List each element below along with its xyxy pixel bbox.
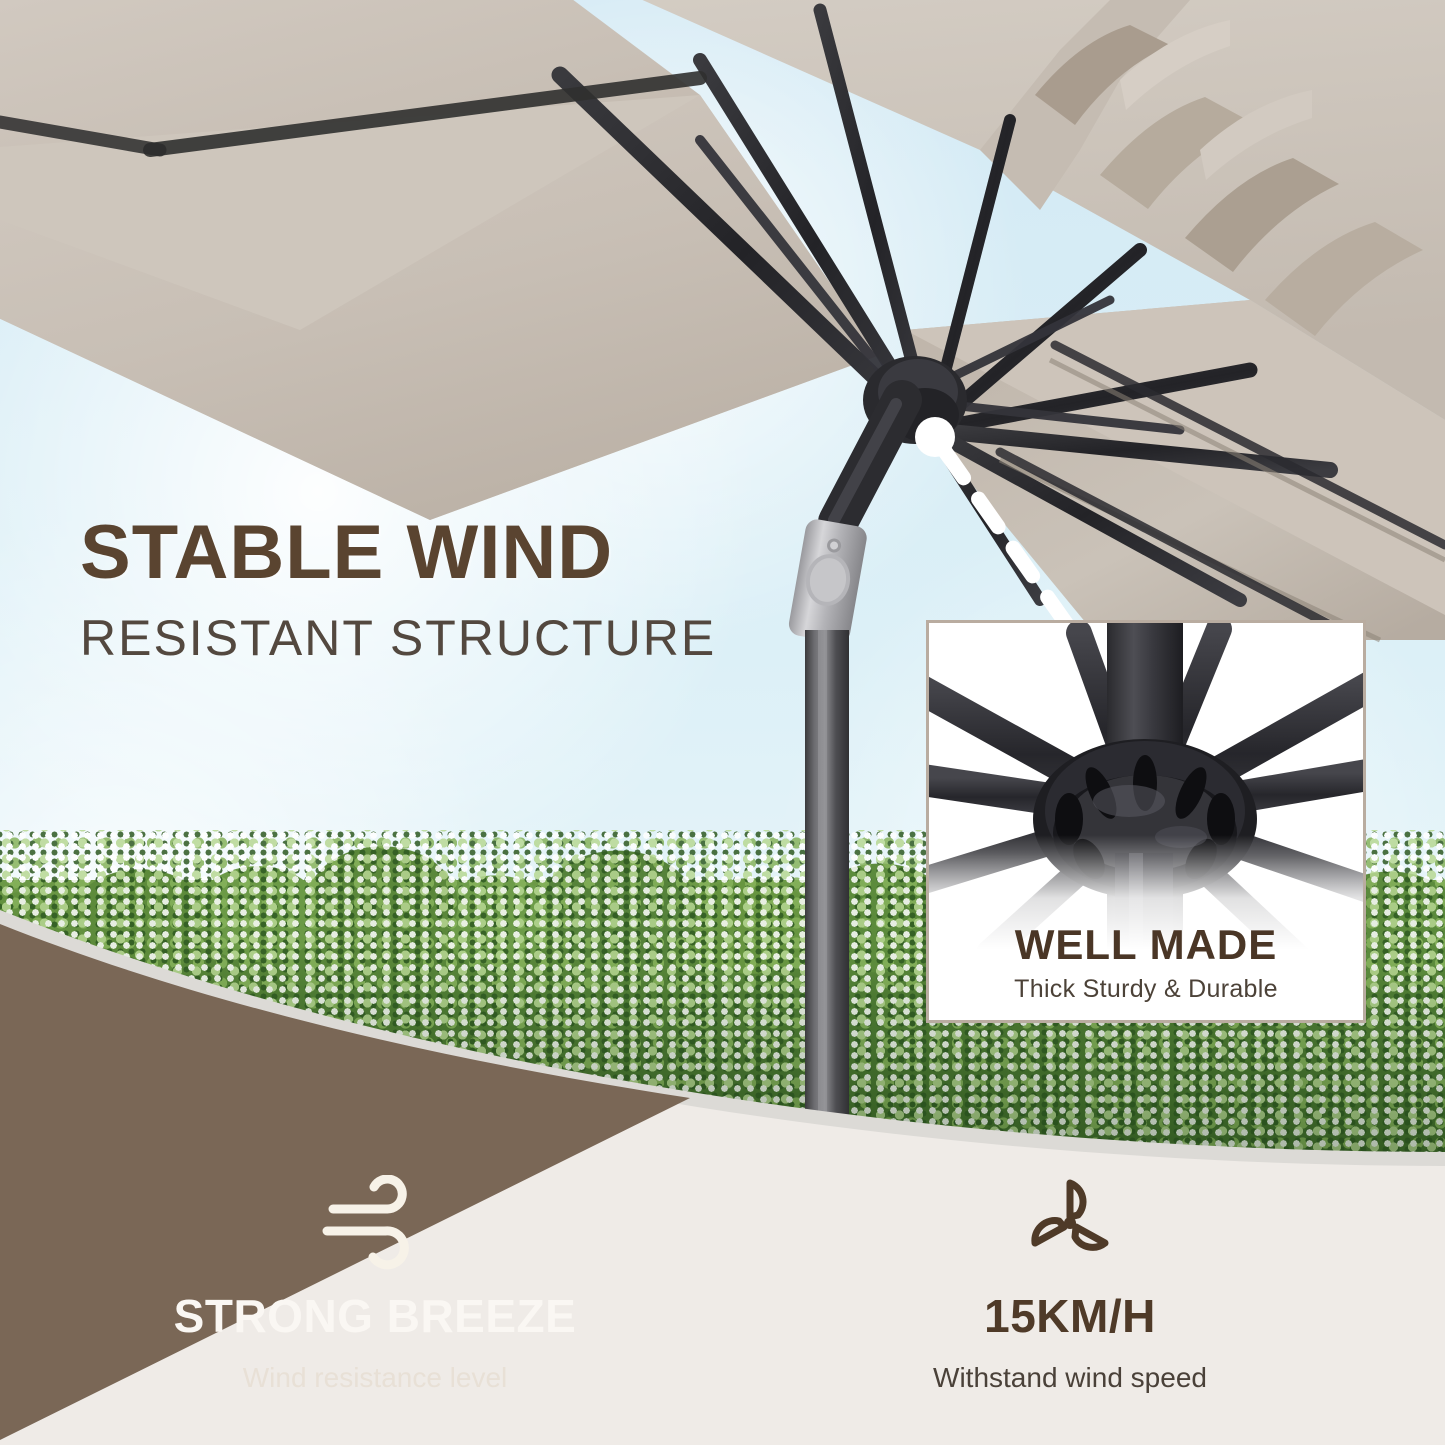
feature-wind-speed: 15KM/H Withstand wind speed: [810, 1175, 1330, 1392]
fan-propeller-icon: [810, 1175, 1330, 1271]
wind-icon: [115, 1175, 635, 1271]
feature-subtitle: Withstand wind speed: [810, 1364, 1330, 1392]
headline-primary: STABLE WIND: [80, 515, 780, 591]
feature-subtitle: Wind resistance level: [115, 1364, 635, 1392]
headline-block: STABLE WIND RESISTANT STRUCTURE: [80, 515, 780, 663]
headline-secondary: RESISTANT STRUCTURE: [80, 613, 780, 663]
feature-title: 15KM/H: [810, 1293, 1330, 1339]
feature-strong-breeze: STRONG BREEZE Wind resistance level: [115, 1175, 635, 1392]
product-feature-image: WELL MADE Thick Sturdy & Durable STABLE …: [0, 0, 1445, 1445]
feature-title: STRONG BREEZE: [115, 1293, 635, 1339]
